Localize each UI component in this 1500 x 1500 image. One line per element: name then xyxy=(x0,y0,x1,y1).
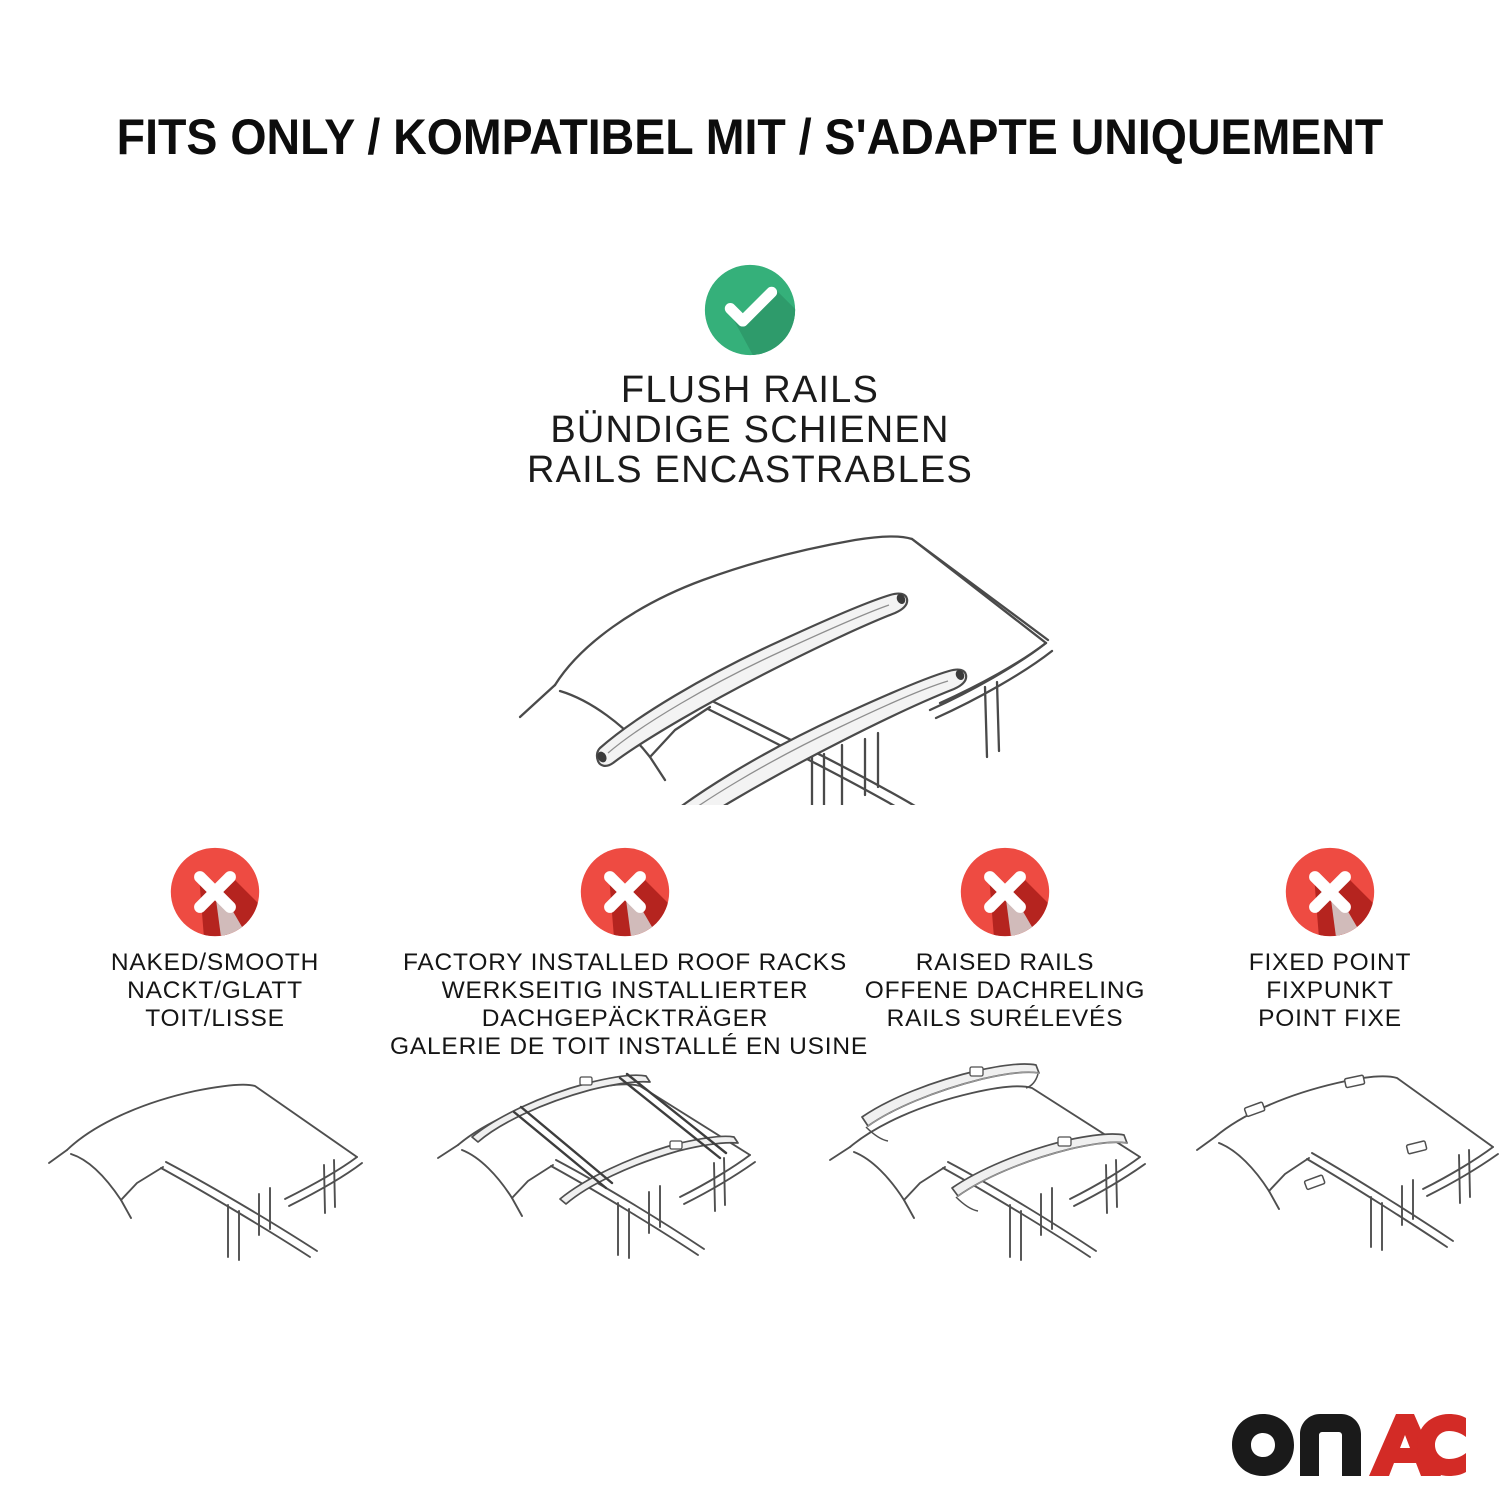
incompatible-item-raised-rails: RAISED RAILS OFFENE DACHRELING RAILS SUR… xyxy=(845,845,1165,1033)
incompatible-label-de: NACKT/GLATT xyxy=(55,977,375,1005)
red-x-circle-icon xyxy=(168,845,262,939)
incompatible-row: NAKED/SMOOTH NACKT/GLATT TOIT/LISSE FACT… xyxy=(0,845,1500,1085)
incompatible-item-factory-roof-racks: FACTORY INSTALLED ROOF RACKS WERKSEITIG … xyxy=(390,845,860,1061)
incompatible-item-fixed-point: FIXED POINT FIXPUNKT POINT FIXE xyxy=(1180,845,1480,1033)
compatible-block: FLUSH RAILS BÜNDIGE SCHIENEN RAILS ENCAS… xyxy=(0,262,1500,490)
incompatible-labels: RAISED RAILS OFFENE DACHRELING RAILS SUR… xyxy=(845,949,1165,1033)
car-roof-raised-rails-illustration xyxy=(810,1055,1195,1280)
incompatible-illustration-row xyxy=(0,1055,1500,1285)
green-check-circle-icon xyxy=(702,262,798,358)
car-roof-flush-rails-illustration xyxy=(460,495,1060,805)
incompatible-label-en: NAKED/SMOOTH xyxy=(55,949,375,977)
incompatible-label-en: FIXED POINT xyxy=(1180,949,1480,977)
incompatible-labels: FIXED POINT FIXPUNKT POINT FIXE xyxy=(1180,949,1480,1033)
incompatible-label-fr: TOIT/LISSE xyxy=(55,1005,375,1033)
incompatible-label-de: FIXPUNKT xyxy=(1180,977,1480,1005)
logo-letter-m xyxy=(1300,1414,1361,1476)
red-x-circle-icon xyxy=(958,845,1052,939)
logo-letter-o xyxy=(1232,1414,1294,1476)
incompatible-label-fr: POINT FIXE xyxy=(1180,1005,1480,1033)
incompatible-label-en: FACTORY INSTALLED ROOF RACKS xyxy=(390,949,860,977)
omac-logo xyxy=(1230,1412,1470,1478)
incompatible-labels: NAKED/SMOOTH NACKT/GLATT TOIT/LISSE xyxy=(55,949,375,1033)
compatible-label-de: BÜNDIGE SCHIENEN xyxy=(0,410,1500,450)
compatible-label-fr: RAILS ENCASTRABLES xyxy=(0,450,1500,490)
incompatible-labels: FACTORY INSTALLED ROOF RACKS WERKSEITIG … xyxy=(390,949,860,1061)
incompatible-label-de-2: DACHGEPÄCKTRÄGER xyxy=(390,1005,860,1033)
red-x-circle-icon xyxy=(578,845,672,939)
incompatible-label-de: OFFENE DACHRELING xyxy=(845,977,1165,1005)
car-roof-factory-roof-racks-illustration xyxy=(420,1055,810,1280)
incompatible-label-fr: RAILS SURÉLEVÉS xyxy=(845,1005,1165,1033)
car-roof-naked-smooth-illustration xyxy=(45,1055,395,1280)
incompatible-label-de-1: WERKSEITIG INSTALLIERTER xyxy=(390,977,860,1005)
incompatible-item-naked-smooth: NAKED/SMOOTH NACKT/GLATT TOIT/LISSE xyxy=(55,845,375,1033)
page-title: FITS ONLY / KOMPATIBEL MIT / S'ADAPTE UN… xyxy=(53,108,1448,166)
compatibility-infographic: FITS ONLY / KOMPATIBEL MIT / S'ADAPTE UN… xyxy=(0,0,1500,1500)
compatible-labels: FLUSH RAILS BÜNDIGE SCHIENEN RAILS ENCAS… xyxy=(0,370,1500,490)
compatible-label-en: FLUSH RAILS xyxy=(0,370,1500,410)
car-roof-fixed-point-illustration xyxy=(1185,1055,1500,1280)
omac-wordmark xyxy=(1230,1412,1470,1478)
incompatible-label-en: RAISED RAILS xyxy=(845,949,1165,977)
red-x-circle-icon xyxy=(1283,845,1377,939)
